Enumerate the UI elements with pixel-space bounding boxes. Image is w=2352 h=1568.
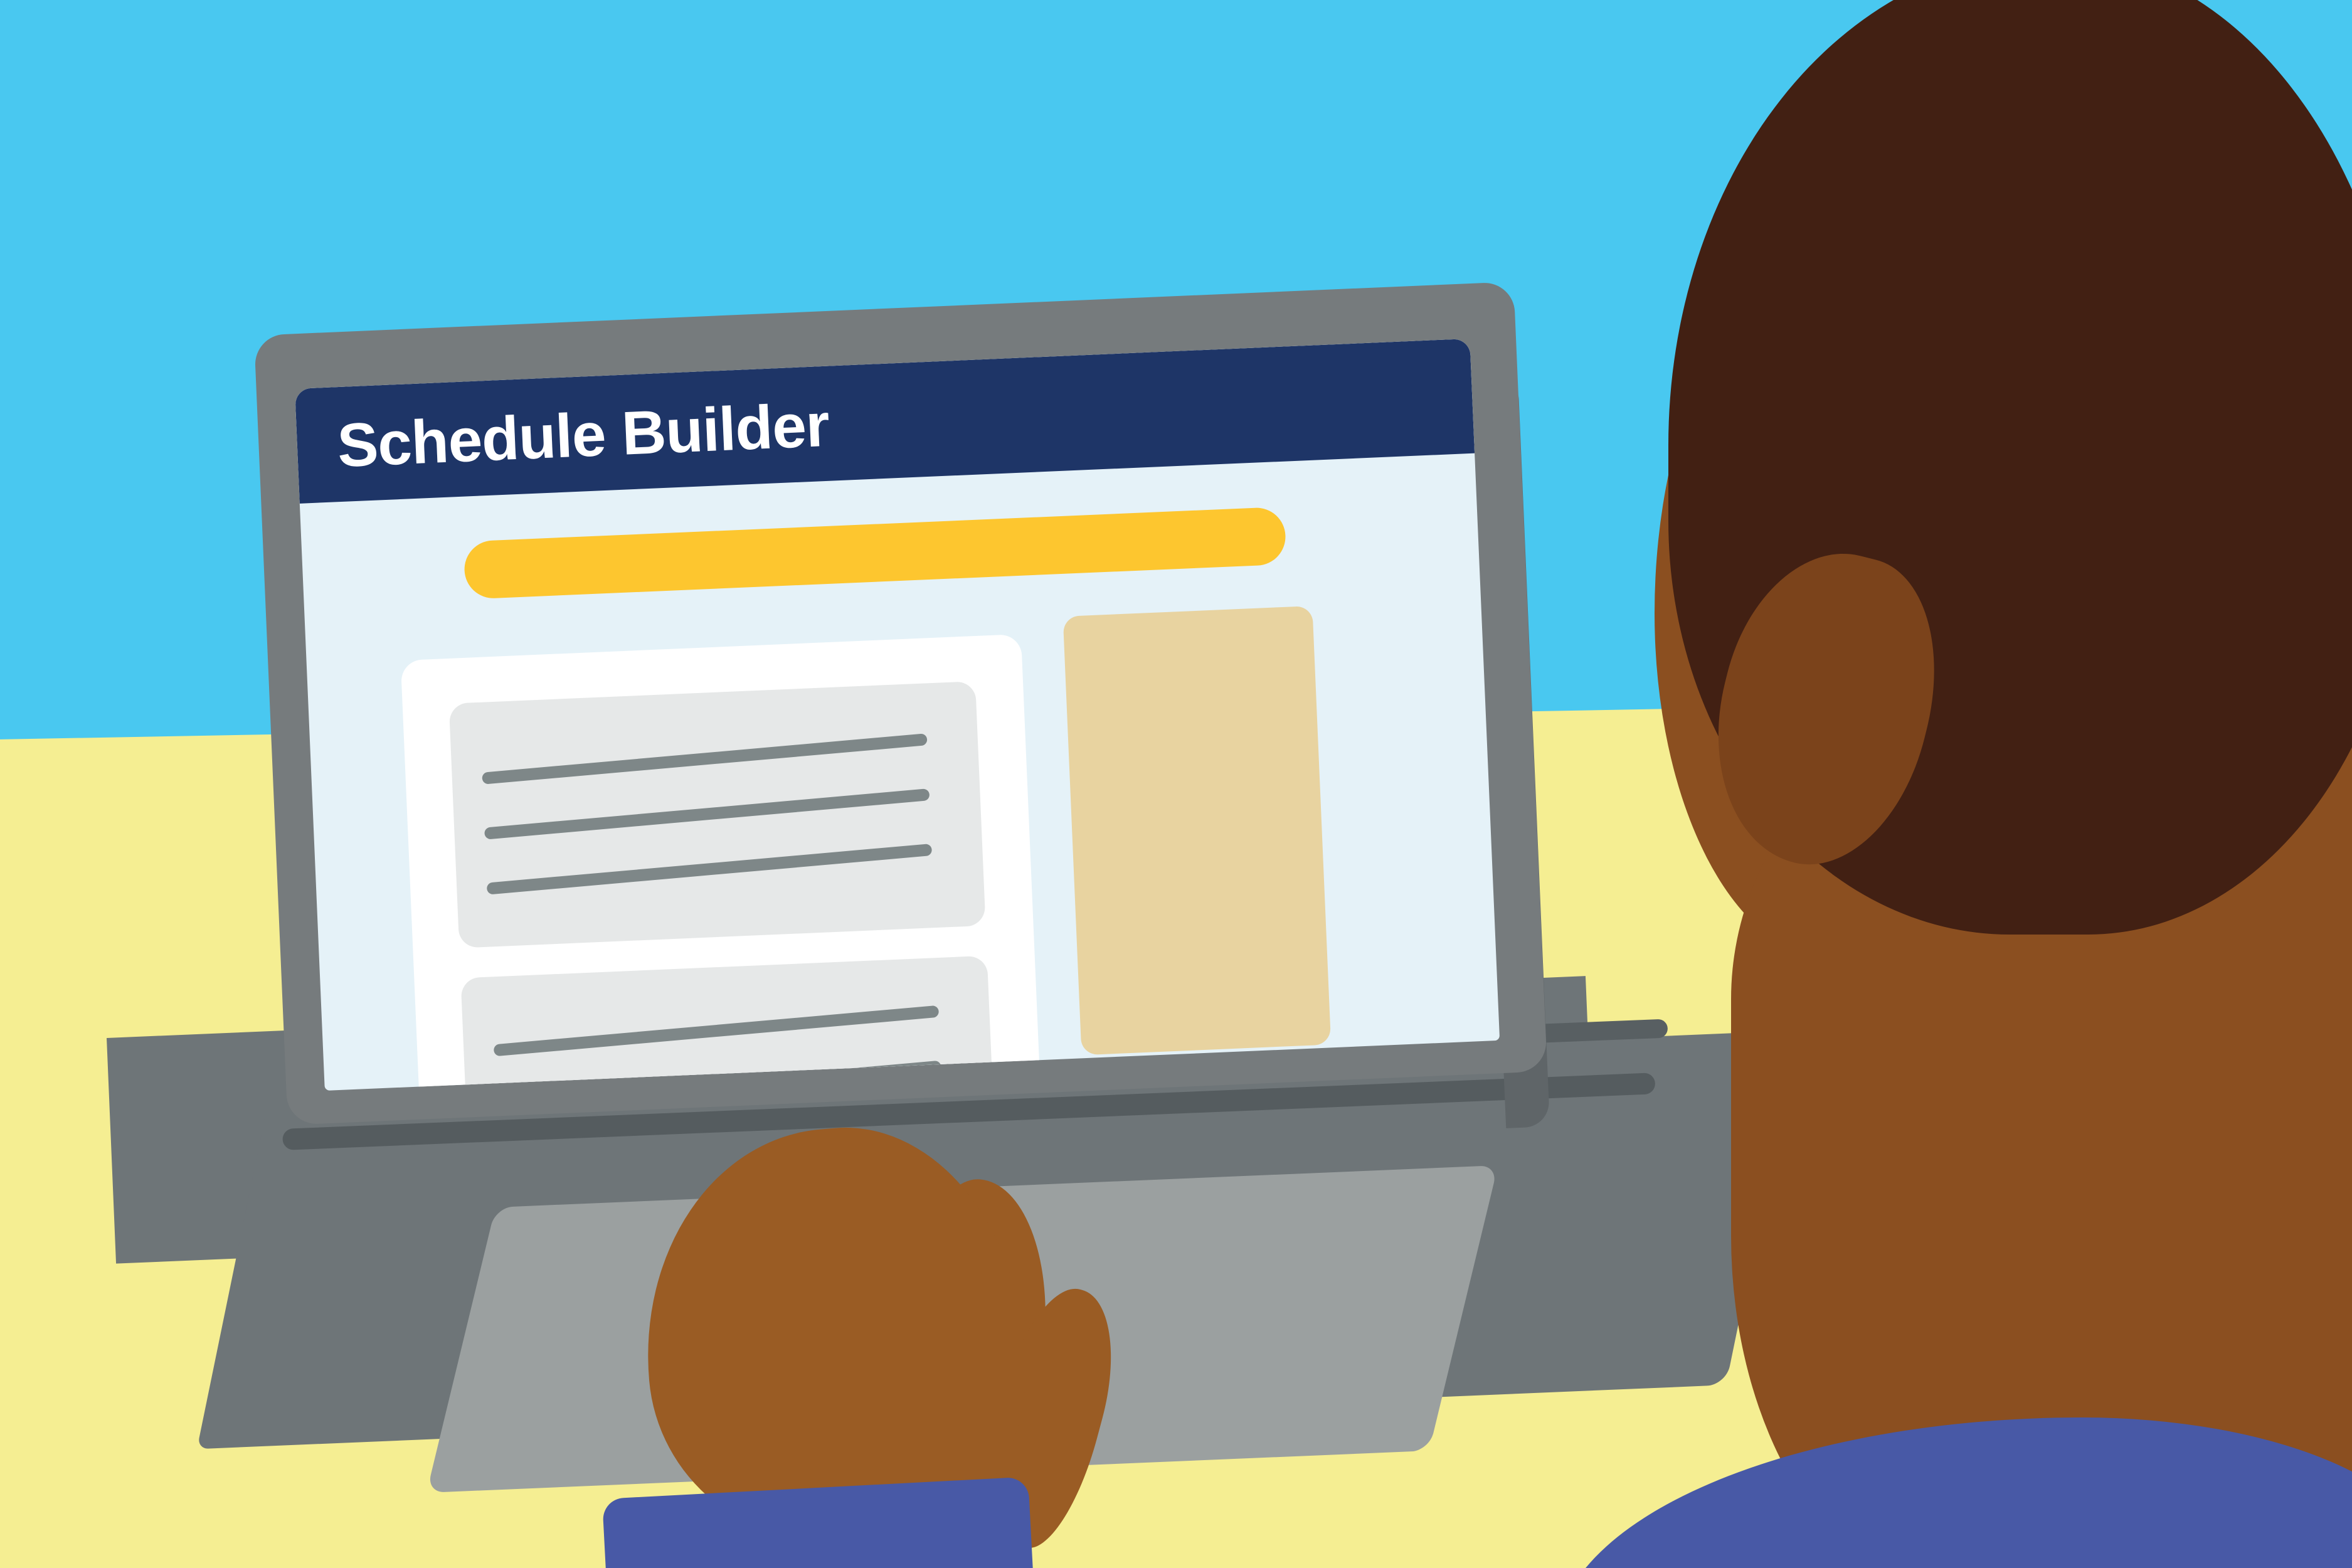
skeleton-line [482, 733, 928, 785]
content-card [401, 634, 1041, 1091]
skeleton-line [487, 844, 933, 895]
side-panel[interactable] [1063, 606, 1332, 1055]
search-input[interactable] [464, 507, 1287, 600]
skeleton-line [494, 1005, 940, 1057]
page-title: Schedule Builder [336, 394, 830, 476]
skeleton-line [484, 788, 930, 840]
laptop-screen: Schedule Builder [295, 339, 1500, 1091]
illustration-canvas: Schedule Builder [0, 0, 2352, 1568]
skeleton-block [449, 681, 986, 948]
